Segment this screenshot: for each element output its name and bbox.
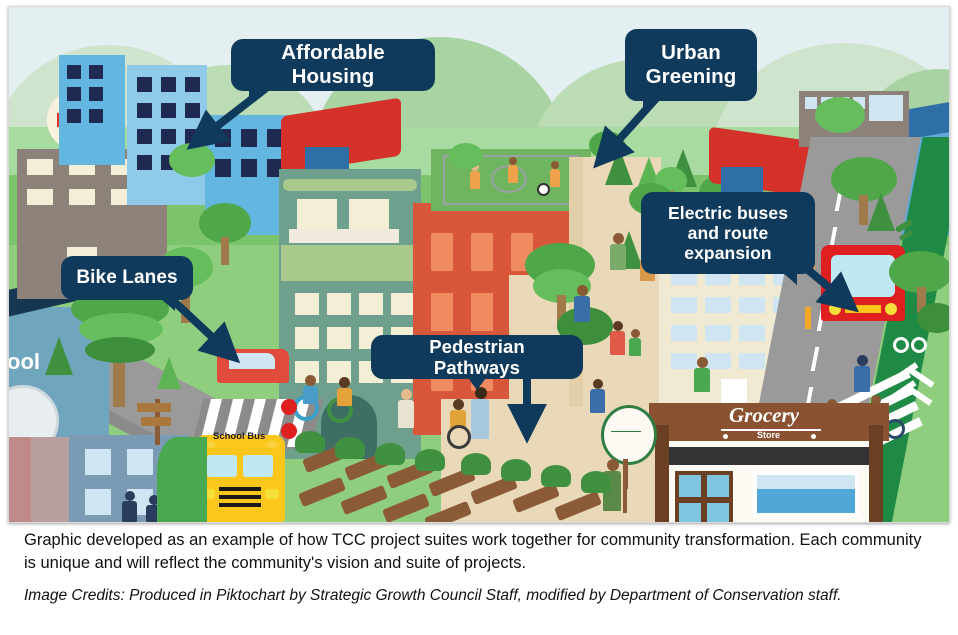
soccer-ball [537, 183, 550, 196]
pedestrian [854, 366, 870, 392]
traffic-signal-red [281, 399, 297, 415]
tree-canopy [449, 143, 483, 169]
residential-window [85, 489, 111, 515]
school-bus-grille [219, 487, 261, 491]
cyclist-left [337, 388, 352, 406]
cyclist-left [303, 386, 318, 404]
hospital-window [27, 189, 53, 205]
pedestrian [610, 244, 626, 270]
tower-window [89, 87, 103, 101]
tower-window [137, 103, 152, 118]
grass-verge-left [157, 437, 207, 522]
cyclist-left [305, 375, 316, 386]
traffic-signal-red [281, 423, 297, 439]
callout-electric-buses-label: Electric buses and route expansion [668, 203, 788, 263]
caption-main: Graphic developed as an example of how T… [24, 529, 934, 576]
wheelchair-wheel [447, 425, 471, 449]
office-window [671, 297, 697, 313]
callout-urban-greening-line1: Urban [661, 41, 721, 64]
caption-credit: Image Credits: Produced in Piktochart by… [24, 585, 934, 607]
grocery-store-banner [665, 447, 873, 465]
path-shrub [375, 443, 405, 465]
building-terrace [281, 245, 419, 281]
signpost-arm [141, 417, 171, 426]
callout-electric-buses-line2: and route [688, 223, 769, 243]
tree-canopy [815, 97, 865, 133]
school-bus-label: School Bus [213, 431, 265, 442]
signpost-arm [137, 403, 171, 412]
path-shrub [415, 449, 445, 471]
path-shrub [501, 459, 531, 481]
tower-window [67, 109, 81, 123]
grocery-store-blind [757, 475, 855, 489]
pedestrian-runner [694, 368, 710, 392]
bike-lane-bicycle-symbol [893, 337, 909, 353]
tower-window [215, 159, 231, 177]
tower-window [137, 155, 152, 170]
grocery-store-door-pane [679, 475, 701, 497]
gardener [607, 459, 619, 471]
orange-apartment-window [471, 293, 493, 331]
path-shrub [335, 437, 365, 459]
callout-affordable-housing-label: Affordable Housing [245, 41, 421, 88]
illustration-canvas: ool [9, 7, 949, 522]
apartment-window [349, 199, 389, 233]
caregiver [471, 399, 489, 439]
hospital-window [27, 159, 53, 175]
pedestrian [593, 379, 603, 389]
tree-canopy [917, 303, 950, 333]
student [122, 501, 137, 522]
pedestrian [577, 285, 588, 296]
callout-pedestrian-pathways-label: Pedestrian Pathways [385, 336, 569, 379]
callout-urban-greening[interactable]: Urban Greening [625, 29, 757, 101]
soccer-player [550, 169, 560, 187]
pedestrian [857, 355, 868, 366]
tower-window [137, 77, 152, 92]
callout-bike-lanes[interactable]: Bike Lanes [61, 256, 193, 300]
orange-apartment-window [431, 293, 453, 331]
tower-window [241, 159, 257, 177]
callout-electric-buses-line3: expansion [684, 243, 771, 263]
bike-lane-bicycle-symbol [911, 337, 927, 353]
callout-electric-buses-line1: Electric buses [668, 203, 788, 223]
pedestrian [401, 389, 412, 400]
grocery-store-door-pane [679, 503, 701, 522]
office-window [671, 353, 697, 369]
office-window [705, 353, 731, 369]
office-window [739, 297, 765, 313]
path-shrub [581, 471, 611, 493]
pedestrian [574, 296, 590, 322]
tower-window [89, 109, 103, 123]
office-window [705, 297, 731, 313]
office-window [739, 325, 765, 341]
grocery-hanging-sign-sub: Store [601, 433, 950, 442]
soccer-player [508, 165, 518, 183]
illustration-frame: ool [8, 6, 950, 523]
callout-urban-greening-line2: Greening [646, 65, 737, 88]
tower-window [67, 65, 81, 79]
commercial-window [805, 97, 817, 109]
callout-electric-buses[interactable]: Electric buses and route expansion [641, 192, 815, 274]
apartment-window [295, 293, 319, 315]
soccer-player [470, 171, 480, 189]
arrow-pedestrian-pathways [509, 373, 569, 453]
apartment-window [327, 293, 351, 315]
building-balcony-band [283, 179, 417, 191]
arrow-bike-lanes [159, 287, 269, 377]
school-bus[interactable] [195, 435, 285, 522]
infographic-page: ool [0, 0, 958, 635]
pedestrian-child [629, 338, 641, 356]
path-shrub [295, 431, 325, 453]
tree-trunk [221, 237, 229, 265]
pedestrian-child [631, 329, 640, 338]
callout-pedestrian-pathways[interactable]: Pedestrian Pathways [371, 335, 583, 379]
office-window [705, 325, 731, 341]
school-bus-window [243, 455, 273, 477]
callout-affordable-housing[interactable]: Affordable Housing [231, 39, 435, 91]
office-window [739, 353, 765, 369]
pedestrian [613, 321, 623, 331]
residential-window [85, 449, 111, 475]
tower-window [137, 129, 152, 144]
pedestrian [590, 389, 605, 413]
school-bus-headlight [265, 489, 279, 499]
path-shrub [461, 453, 491, 475]
pedestrian [610, 331, 625, 355]
residential-window [127, 449, 153, 475]
tree-canopy [85, 337, 155, 363]
school-building-sign: ool [8, 349, 40, 375]
grocery-hanging-sign-name: Grocery [601, 417, 950, 427]
school-bus-grille [219, 503, 261, 507]
student [125, 491, 135, 501]
cyclist-left [339, 377, 350, 388]
callout-urban-greening-label: Urban Greening [646, 41, 737, 88]
orange-apartment-window [471, 233, 493, 271]
pedestrian-runner [697, 357, 708, 368]
apartment-window [327, 327, 351, 349]
gardener-tool [623, 459, 627, 513]
grocery-store-door-pane [707, 475, 729, 497]
apartment-window [391, 293, 415, 315]
caption-block: Graphic developed as an example of how T… [24, 529, 934, 607]
soccer-player [551, 161, 559, 169]
arrow-urban-greening [571, 87, 681, 187]
apartment-window [297, 199, 337, 233]
balcony-rail [289, 229, 399, 243]
conifer-tree [867, 193, 895, 231]
grocery-hanging-sign-divider [611, 431, 641, 432]
path-shrub [541, 465, 571, 487]
orange-apartment-window [431, 233, 453, 271]
tower-window [67, 87, 81, 101]
grocery-store-door-pane [707, 503, 729, 522]
apartment-window [295, 327, 319, 349]
commercial-window [869, 95, 903, 121]
callout-bike-lanes-label: Bike Lanes [76, 267, 177, 289]
school-bus-window [207, 455, 237, 477]
pedestrian [613, 233, 624, 244]
apartment-window [359, 293, 383, 315]
soccer-player [509, 157, 517, 165]
school-bus-roof-light [267, 441, 277, 448]
pedestrian [398, 400, 414, 428]
conifer-tree [45, 337, 73, 375]
school-bus-grille [219, 495, 261, 499]
tower-window [89, 65, 103, 79]
hospital-window [69, 189, 95, 205]
office-window [671, 325, 697, 341]
wheelchair-user [453, 399, 464, 410]
